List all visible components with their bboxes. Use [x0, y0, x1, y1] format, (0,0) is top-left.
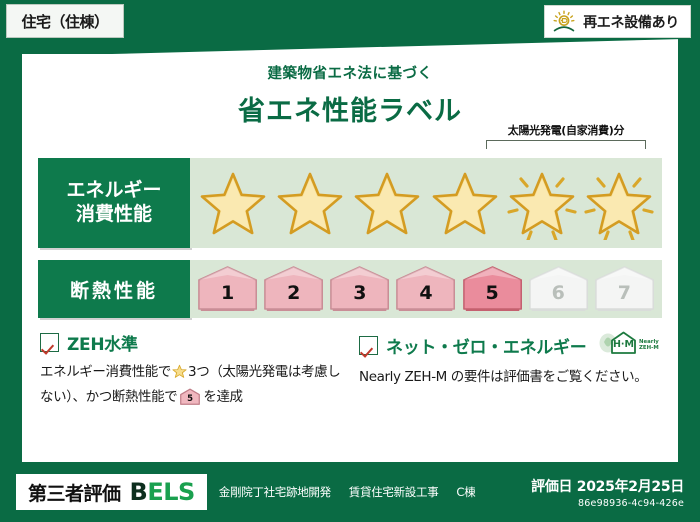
insulation-level-1: 1 — [197, 266, 258, 312]
insulation-level-number: 1 — [221, 284, 234, 312]
star-5 — [505, 166, 579, 240]
criterion-zeh: ZEH水準 エネルギー消費性能で3つ（太陽光発電は考慮しない）、かつ断熱性能で5… — [40, 330, 345, 413]
evaluation-id: 86e98936-4c94-426e — [531, 498, 684, 509]
renewable-equipment-badge: 再エネ設備あり — [544, 5, 691, 38]
insulation-level-number: 5 — [486, 284, 499, 312]
star-icon — [172, 364, 187, 387]
criterion-net-zero-body: Nearly ZEH-M の要件は評価書をご覧ください。 — [359, 367, 664, 389]
page-title: 省エネ性能ラベル — [22, 89, 678, 128]
criteria-section: ZEH水準 エネルギー消費性能で3つ（太陽光発電は考慮しない）、かつ断熱性能で5… — [40, 330, 664, 413]
insulation-level-number: 3 — [353, 284, 366, 312]
energy-consumption-row: エネルギー 消費性能 太陽光発電(自家消費)分 — [38, 158, 662, 248]
energy-performance-label: 住宅（住棟） 再エネ設備あり — [0, 0, 700, 522]
insulation-performance-row: 断熱性能 1 2 3 — [38, 260, 662, 318]
star-rating — [190, 166, 662, 240]
insulation-level-7: 7 — [594, 266, 655, 312]
star-2 — [273, 166, 347, 240]
criterion-net-zero-title: ネット・ゼロ・エネルギー — [386, 333, 586, 358]
bels-jp-label: 第三者評価 — [28, 479, 121, 506]
check-icon — [40, 333, 59, 352]
star-6 — [582, 166, 656, 240]
renewable-badge-label: 再エネ設備あり — [583, 12, 679, 32]
zeh-m-logo-icon: H·M Nearly ZEH-M — [598, 330, 660, 360]
insulation-level-4: 4 — [395, 266, 456, 312]
svg-text:ZEH-M: ZEH-M — [639, 345, 659, 351]
zeh-body-part1: エネルギー消費性能で — [40, 364, 171, 380]
footer-bar: 第三者評価 BELS 金剛院丁社宅跡地開発 賃貸住宅新設工事 C棟 評価日 20… — [0, 462, 700, 522]
sun-icon — [551, 10, 577, 34]
bels-logo-b: B — [130, 478, 148, 506]
insulation-level-2: 2 — [263, 266, 324, 312]
energy-label-line1: エネルギー — [66, 179, 161, 203]
insulation-level-6: 6 — [528, 266, 589, 312]
insulation-level-5: 5 — [462, 266, 523, 312]
insulation-level-track: 1 2 3 4 — [190, 260, 662, 318]
label-card: 建築物省エネ法に基づく 省エネ性能ラベル エネルギー 消費性能 太陽光発電(自家… — [22, 38, 678, 462]
insulation-level-number: 4 — [419, 284, 432, 312]
evaluation-info: 評価日 2025年2月25日 86e98936-4c94-426e — [531, 476, 684, 509]
insulation-level-3: 3 — [329, 266, 390, 312]
bels-logo-els: ELS — [147, 478, 194, 506]
project-name: 金剛院丁社宅跡地開発 — [219, 484, 331, 500]
energy-star-track: 太陽光発電(自家消費)分 — [190, 158, 662, 248]
energy-consumption-label: エネルギー 消費性能 — [38, 158, 190, 248]
page-title-block: 建築物省エネ法に基づく 省エネ性能ラベル — [22, 38, 678, 128]
star-4 — [428, 166, 502, 240]
criterion-net-zero-header: ネット・ゼロ・エネルギー H·M Nearly ZEH-M — [359, 330, 664, 360]
insulation-level-scale: 1 2 3 4 — [190, 266, 662, 312]
insulation-level-number: 7 — [618, 284, 631, 312]
zeh-body-part3: を達成 — [203, 389, 242, 405]
project-building: C棟 — [456, 484, 475, 500]
label-subtitle: 建築物省エネ法に基づく — [22, 62, 678, 83]
energy-label-line2: 消費性能 — [76, 203, 152, 227]
solar-annotation-bracket — [486, 140, 646, 149]
star-3 — [350, 166, 424, 240]
building-type-tag: 住宅（住棟） — [6, 4, 124, 38]
criterion-zeh-title: ZEH水準 — [67, 330, 138, 355]
evaluation-date: 評価日 2025年2月25日 — [531, 476, 684, 496]
zeh-body-star-count: 3つ — [188, 364, 209, 380]
svg-text:H·M: H·M — [613, 339, 634, 350]
svg-text:5: 5 — [188, 394, 194, 404]
house-badge-icon: 5 — [179, 388, 201, 413]
bels-certification-plate: 第三者評価 BELS — [16, 474, 207, 510]
criterion-zeh-header: ZEH水準 — [40, 330, 345, 355]
insulation-performance-label: 断熱性能 — [38, 260, 190, 318]
criterion-zeh-body: エネルギー消費性能で3つ（太陽光発電は考慮しない）、かつ断熱性能で5を達成 — [40, 362, 345, 413]
criterion-net-zero: ネット・ゼロ・エネルギー H·M Nearly ZEH-M — [359, 330, 664, 413]
project-work: 賃貸住宅新設工事 — [349, 484, 439, 500]
check-icon — [359, 336, 378, 355]
insulation-level-number: 6 — [552, 284, 565, 312]
building-type-label: 住宅（住棟） — [21, 11, 108, 32]
project-info: 金剛院丁社宅跡地開発 賃貸住宅新設工事 C棟 — [219, 484, 476, 500]
star-1 — [196, 166, 270, 240]
insulation-level-number: 2 — [287, 284, 300, 312]
